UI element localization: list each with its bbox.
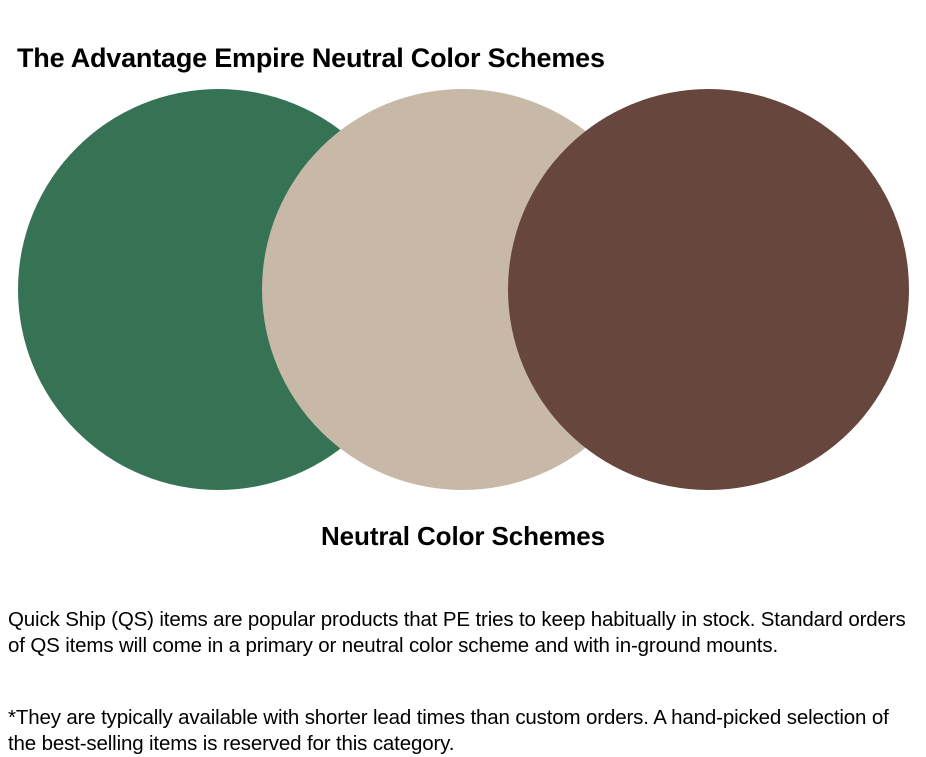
page-root: The Advantage Empire Neutral Color Schem… [0, 0, 926, 752]
body-paragraph-1: Quick Ship (QS) items are popular produc… [8, 607, 908, 659]
body-paragraph-2: *They are typically available with short… [8, 705, 908, 757]
color-swatch-brown [508, 89, 909, 490]
color-swatch-group [0, 0, 926, 510]
swatch-caption: Neutral Color Schemes [0, 521, 926, 552]
